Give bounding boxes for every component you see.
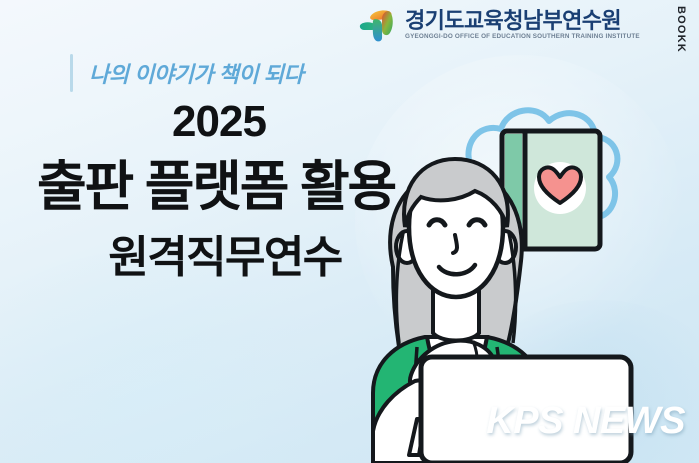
- logo-english-name: GYEONGGI-DO OFFICE OF EDUCATION SOUTHERN…: [405, 34, 640, 41]
- woman-at-laptop: [355, 75, 699, 463]
- tagline-text: 나의 이야기가 책이 되다: [89, 57, 303, 89]
- tagline-accent-bar: [70, 54, 73, 92]
- bookk-brand-label: BOOKK: [675, 6, 687, 53]
- institute-logo: 경기도교육청남부연수원 GYEONGGI-DO OFFICE OF EDUCAT…: [356, 4, 635, 46]
- tagline: 나의 이야기가 책이 되다: [70, 54, 303, 92]
- logo-korean-name: 경기도교육청남부연수원: [405, 9, 635, 32]
- gyeonggi-pinwheel-logo-icon: [356, 4, 398, 46]
- promo-poster: 경기도교육청남부연수원 GYEONGGI-DO OFFICE OF EDUCAT…: [0, 0, 699, 463]
- poster-header: 경기도교육청남부연수원 GYEONGGI-DO OFFICE OF EDUCAT…: [0, 0, 699, 58]
- laptop: [409, 357, 631, 463]
